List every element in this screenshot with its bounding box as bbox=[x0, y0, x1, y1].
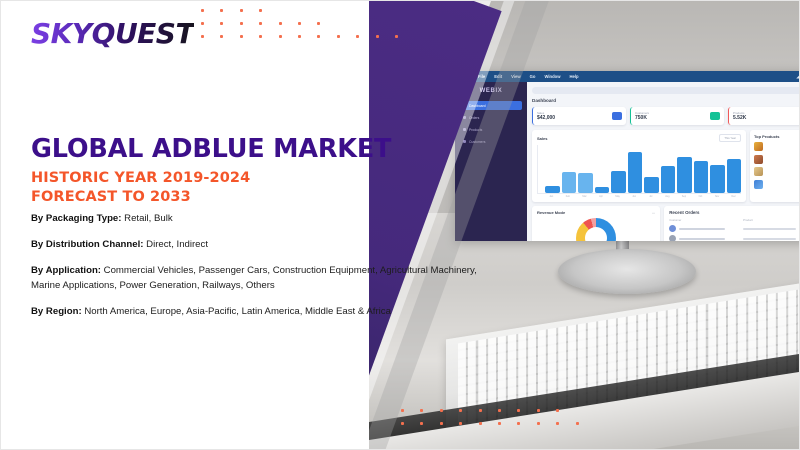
historic-year-line: HISTORIC YEAR 2019-2024 bbox=[31, 169, 250, 188]
sidebar-item-customers[interactable]: Customers bbox=[460, 137, 522, 146]
chart-range-select[interactable]: This Year bbox=[719, 134, 741, 142]
more-options-icon[interactable]: ⋯ bbox=[652, 211, 655, 215]
bar-chart-tick-label: Jan bbox=[544, 195, 559, 198]
bar-chart-tick-label: Dec bbox=[726, 195, 741, 198]
users-icon bbox=[463, 140, 466, 143]
decorative-dot bbox=[498, 409, 501, 412]
decorative-dot bbox=[440, 409, 443, 412]
decorative-dot bbox=[479, 422, 482, 425]
decorative-dot bbox=[395, 35, 398, 38]
decorative-dot bbox=[479, 409, 482, 412]
decorative-dot bbox=[279, 35, 282, 38]
decorative-dot bbox=[259, 22, 262, 25]
bar-chart-tick-label: Jun bbox=[627, 195, 642, 198]
forecast-line: FORECAST TO 2033 bbox=[31, 188, 250, 207]
dot-pattern-bottom bbox=[401, 409, 579, 435]
bar-chart-tick-label: Sep bbox=[677, 195, 692, 198]
sidebar-item-label: Orders bbox=[469, 116, 479, 120]
decorative-dot bbox=[317, 22, 320, 25]
box-icon bbox=[463, 128, 466, 131]
decorative-dot bbox=[220, 35, 223, 38]
content-panel: SKYQUEST GLOBAL ADBLUE MARKET HISTORIC Y… bbox=[1, 1, 431, 450]
dot-row bbox=[401, 422, 579, 425]
product-thumbnail-icon bbox=[754, 180, 763, 189]
decorative-dot bbox=[556, 409, 559, 412]
decorative-dot bbox=[279, 22, 282, 25]
kpi-card-sales[interactable]: Sales $42,000 bbox=[532, 107, 626, 125]
kpi-value: $42,000 bbox=[537, 115, 555, 122]
marketing-slide: File Edit View Go Window Help ◢ 100% WEB… bbox=[0, 0, 800, 450]
segment-label: By Region: bbox=[31, 306, 82, 317]
sidebar-item-label: Products bbox=[469, 128, 482, 132]
decorative-dot bbox=[201, 22, 204, 25]
top-products-card: Top Products bbox=[750, 130, 799, 202]
column-header-product: Product bbox=[743, 218, 799, 222]
table-row[interactable] bbox=[669, 225, 799, 232]
bar-chart-tick-label: Aug bbox=[660, 195, 675, 198]
kpi-value: 750K bbox=[635, 115, 649, 122]
bar-chart-bar bbox=[562, 172, 577, 193]
bar-chart-tick-label: Jul bbox=[643, 195, 658, 198]
menu-item-file[interactable]: File bbox=[478, 74, 485, 79]
decorative-dot bbox=[337, 35, 340, 38]
search-input[interactable] bbox=[532, 87, 799, 94]
sidebar-item-products[interactable]: Products bbox=[460, 125, 522, 134]
bar-chart-bar bbox=[628, 152, 643, 193]
skyquest-logo[interactable]: SKYQUEST bbox=[31, 17, 194, 50]
segment-value: North America, Europe, Asia-Pacific, Lat… bbox=[84, 306, 391, 317]
decorative-dot bbox=[201, 35, 204, 38]
decorative-dot bbox=[240, 22, 243, 25]
list-item[interactable] bbox=[754, 180, 799, 189]
dashboard-body: WEBIX Dashboard Orders Products bbox=[455, 82, 799, 241]
avatar bbox=[669, 225, 676, 232]
recent-orders-title: Recent Orders bbox=[669, 210, 799, 215]
decorative-dot bbox=[298, 22, 301, 25]
bar-chart-tick-label: Nov bbox=[710, 195, 725, 198]
dashboard-lower-panels: Revenue Mode ⋯ Direct Referral Organic bbox=[532, 206, 799, 241]
revenue-donut-card: Revenue Mode ⋯ Direct Referral Organic bbox=[532, 206, 660, 241]
decorative-dot bbox=[317, 35, 320, 38]
dashboard-screenshot: File Edit View Go Window Help ◢ 100% WEB… bbox=[455, 71, 799, 241]
decorative-dot bbox=[356, 35, 359, 38]
bar-chart-bar bbox=[578, 173, 593, 193]
segment-label: By Packaging Type: bbox=[31, 213, 121, 224]
decorative-dot bbox=[498, 422, 501, 425]
segment-distribution-channel: By Distribution Channel: Direct, Indirec… bbox=[31, 238, 481, 253]
decorative-dot bbox=[537, 422, 540, 425]
bar-chart-tick-label: Oct bbox=[693, 195, 708, 198]
decorative-dot bbox=[556, 422, 559, 425]
dashboard-search-row bbox=[532, 87, 799, 94]
segment-value: Retail, Bulk bbox=[124, 213, 173, 224]
sidebar-item-label: Customers bbox=[469, 140, 485, 144]
segment-packaging-type: By Packaging Type: Retail, Bulk bbox=[31, 212, 481, 227]
decorative-dot bbox=[401, 422, 404, 425]
kpi-row: Sales $42,000 Customers 750K bbox=[532, 107, 799, 125]
menu-item-view[interactable]: View bbox=[511, 74, 520, 79]
chart-title: Sales bbox=[537, 136, 547, 141]
kpi-card-customers[interactable]: Customers 750K bbox=[630, 107, 724, 125]
product-thumbnail-icon bbox=[754, 167, 763, 176]
bar-chart-bar bbox=[661, 166, 676, 194]
bar-chart-plot bbox=[537, 145, 741, 194]
dashboard-page-title: Dashboard bbox=[532, 98, 799, 103]
decorative-dot bbox=[259, 9, 262, 12]
list-item[interactable] bbox=[754, 167, 799, 176]
recent-orders-header: Customer Product bbox=[669, 218, 799, 222]
decorative-dot bbox=[298, 35, 301, 38]
cart-icon bbox=[612, 112, 622, 120]
top-products-title: Top Products bbox=[754, 134, 799, 139]
bar-chart-bar bbox=[595, 187, 610, 193]
recent-orders-card: Recent Orders Customer Product bbox=[664, 206, 799, 241]
decorative-dot bbox=[420, 409, 423, 412]
decorative-dot bbox=[440, 422, 443, 425]
decorative-dot bbox=[240, 35, 243, 38]
decorative-dot bbox=[220, 22, 223, 25]
decorative-dot bbox=[459, 422, 462, 425]
decorative-dot bbox=[240, 9, 243, 12]
decorative-dot bbox=[376, 35, 379, 38]
list-item[interactable] bbox=[754, 142, 799, 151]
wifi-icon[interactable]: ◢ bbox=[796, 74, 799, 79]
bar-chart-tick-label: Apr bbox=[594, 195, 609, 198]
chart-card-header: Sales This Year bbox=[537, 134, 741, 142]
segment-application: By Application: Commercial Vehicles, Pas… bbox=[31, 264, 481, 294]
bar-chart-bar bbox=[710, 165, 725, 194]
decorative-dot bbox=[459, 409, 462, 412]
dot-row bbox=[201, 9, 398, 12]
list-item[interactable] bbox=[754, 155, 799, 164]
segment-label: By Distribution Channel: bbox=[31, 239, 143, 250]
decorative-dot bbox=[517, 409, 520, 412]
donut-chart bbox=[576, 218, 616, 241]
menu-item-go[interactable]: Go bbox=[530, 74, 536, 79]
product-thumbnail-icon bbox=[754, 142, 763, 151]
product-thumbnail-icon bbox=[754, 155, 763, 164]
dot-row bbox=[201, 35, 398, 38]
users-icon bbox=[710, 112, 720, 120]
avatar bbox=[669, 235, 676, 241]
bar-chart-bar bbox=[611, 171, 626, 193]
bar-chart-bar bbox=[694, 161, 709, 194]
segment-list: By Packaging Type: Retail, Bulk By Distr… bbox=[31, 212, 481, 331]
bar-chart-tick-label: Mar bbox=[577, 195, 592, 198]
segment-label: By Application: bbox=[31, 265, 101, 276]
bar-chart-tick-label: May bbox=[610, 195, 625, 198]
dot-pattern-top-right bbox=[201, 9, 398, 48]
decorative-dot bbox=[517, 422, 520, 425]
decorative-dot bbox=[401, 409, 404, 412]
sales-bar-chart-card: Sales This Year JanFebMarAprMayJunJulAug… bbox=[532, 130, 746, 202]
dot-row bbox=[201, 22, 398, 25]
bar-chart-x-axis: JanFebMarAprMayJunJulAugSepOctNovDec bbox=[537, 195, 741, 198]
donut-card-header: Revenue Mode ⋯ bbox=[537, 210, 655, 215]
sidebar-item-orders[interactable]: Orders bbox=[460, 113, 522, 122]
cart-icon bbox=[463, 116, 466, 119]
bar-chart-tick-label: Feb bbox=[561, 195, 576, 198]
decorative-dot bbox=[537, 409, 540, 412]
table-row[interactable] bbox=[669, 235, 799, 241]
dot-row bbox=[401, 409, 579, 412]
menu-item-edit[interactable]: Edit bbox=[494, 74, 502, 79]
decorative-dot bbox=[220, 9, 223, 12]
page-title: GLOBAL ADBLUE MARKET bbox=[31, 134, 391, 164]
menu-item-window[interactable]: Window bbox=[544, 74, 560, 79]
menu-item-help[interactable]: Help bbox=[569, 74, 578, 79]
decorative-dot bbox=[576, 422, 579, 425]
monitor-stand-base bbox=[558, 249, 696, 294]
dashboard-main: Dashboard Sales $42,000 Customers bbox=[527, 82, 799, 241]
decorative-dot bbox=[420, 422, 423, 425]
dashboard-panels: Sales This Year JanFebMarAprMayJunJulAug… bbox=[532, 130, 799, 202]
segment-region: By Region: North America, Europe, Asia-P… bbox=[31, 305, 481, 320]
kpi-value: 5.52K bbox=[733, 115, 746, 122]
dashboard-menubar: File Edit View Go Window Help ◢ 100% bbox=[455, 71, 799, 82]
segment-value: Direct, Indirect bbox=[146, 239, 208, 250]
sidebar-item-dashboard[interactable]: Dashboard bbox=[460, 101, 522, 110]
bar-chart-bar bbox=[545, 186, 560, 194]
bar-chart-bar bbox=[727, 159, 742, 194]
decorative-dot bbox=[259, 35, 262, 38]
bar-chart-bar bbox=[644, 177, 659, 193]
kpi-card-products[interactable]: Products 5.52K bbox=[728, 107, 799, 125]
decorative-dot bbox=[201, 9, 204, 12]
bar-chart-bar bbox=[677, 157, 692, 193]
donut-title: Revenue Mode bbox=[537, 210, 565, 215]
report-period: HISTORIC YEAR 2019-2024 FORECAST TO 2033 bbox=[31, 169, 250, 207]
sidebar-item-label: Dashboard bbox=[469, 104, 486, 108]
column-header-customer: Customer bbox=[669, 218, 743, 222]
